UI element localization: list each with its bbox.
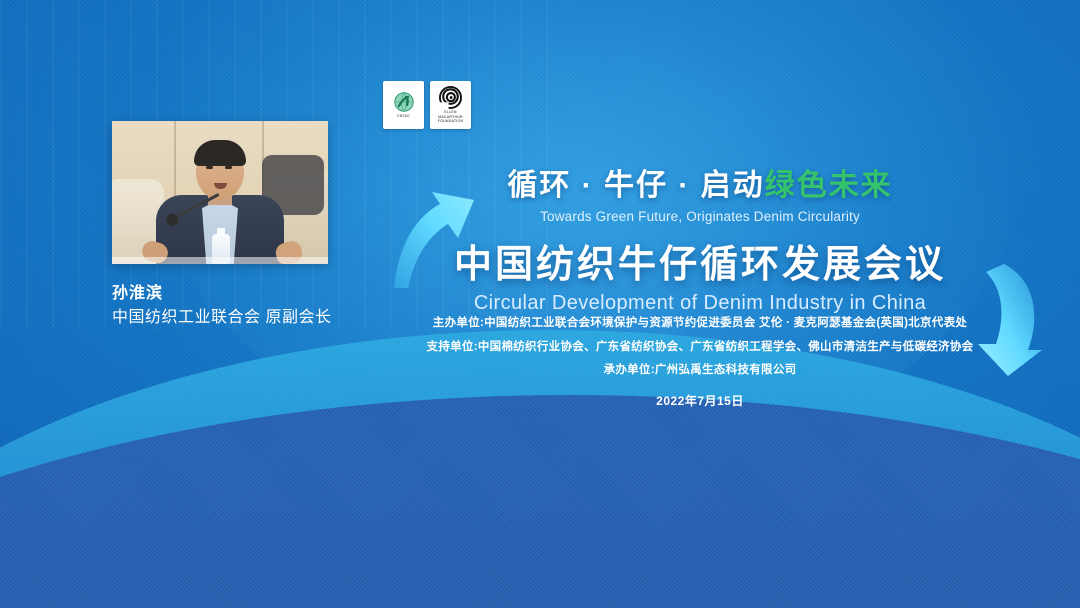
cntac-logo: CNTAC <box>383 81 424 129</box>
credit-organizer: 承办单位:广州弘禹生态科技有限公司 <box>400 359 1000 383</box>
speaker-hair <box>194 140 246 166</box>
bokeh-dot <box>352 438 357 447</box>
logo-group: CNTAC ELLEN MACARTHUR FOUNDATION <box>383 81 471 129</box>
bokeh-dot <box>780 440 786 450</box>
speaker-role: 中国纺织工业联合会 原副会长 <box>112 306 412 330</box>
ellen-macarthur-foundation-logo: ELLEN MACARTHUR FOUNDATION <box>430 81 471 129</box>
tagline-green-part: 绿色未来 <box>765 169 893 202</box>
credit-support: 支持单位:中国棉纺织行业协会、广东省纺织协会、广东省纺织工程学会、佛山市清洁生产… <box>400 336 1000 360</box>
conference-slide: 孙淮滨 中国纺织工业联合会 原副会长 CNTAC ELLEN MACARTHUR… <box>0 0 1080 608</box>
bokeh-dot <box>640 460 645 468</box>
cntac-logo-caption: CNTAC <box>385 114 423 118</box>
speaker-eye-right <box>225 166 232 169</box>
event-tagline: 循环 · 牛仔 · 启动绿色未来 <box>400 160 1000 204</box>
bokeh-dot <box>470 470 475 478</box>
concentric-circles-icon <box>439 86 462 109</box>
tagline-white-part: 循环 · 牛仔 · 启动 <box>507 169 764 202</box>
background-wave-lower <box>0 395 1080 608</box>
credit-host: 主办单位:中国纺织工业联合会环境保护与资源节约促进委员会 艾伦 · 麦克阿瑟基金… <box>400 312 1000 336</box>
bokeh-dot <box>300 455 307 466</box>
green-globe-icon <box>393 91 415 113</box>
speaker-caption: 孙淮滨 中国纺织工业联合会 原副会长 <box>112 282 412 330</box>
event-title-chinese: 中国纺织牛仔循环发展会议 <box>400 233 1000 288</box>
bokeh-dot <box>560 428 566 438</box>
desk-edge <box>112 257 328 264</box>
speaker-name: 孙淮滨 <box>112 282 412 306</box>
speaker-eye-left <box>206 166 213 169</box>
event-tagline-english: Towards Green Future, Originates Denim C… <box>400 209 1000 224</box>
emf-logo-caption: ELLEN MACARTHUR FOUNDATION <box>432 110 470 123</box>
speaker-video-thumbnail[interactable] <box>112 121 328 264</box>
event-credits: 主办单位:中国纺织工业联合会环境保护与资源节约促进委员会 艾伦 · 麦克阿瑟基金… <box>400 312 1000 409</box>
bokeh-dot <box>880 432 885 441</box>
event-date: 2022年7月15日 <box>400 392 1000 409</box>
event-title-block: 循环 · 牛仔 · 启动绿色未来 Towards Green Future, O… <box>400 160 1000 315</box>
bokeh-dot <box>930 455 936 464</box>
